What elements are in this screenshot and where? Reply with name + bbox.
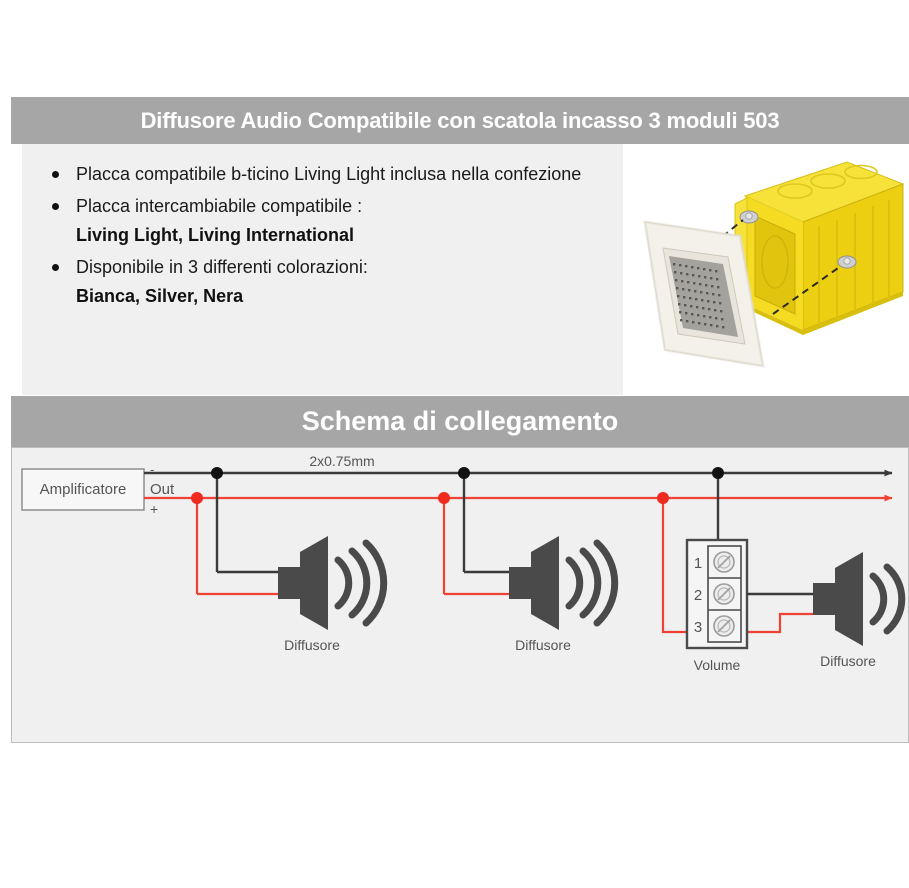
volume-label: Volume — [694, 657, 741, 673]
bullet-icon — [52, 203, 59, 210]
amplifier-block: Amplificatore — [22, 469, 144, 510]
feature-text: Disponibile in 3 differenti colorazioni: — [76, 257, 368, 277]
product-card: Diffusore Audio Compatibile con scatola … — [11, 97, 909, 395]
screw-boss-bottom — [838, 256, 856, 268]
terminal-number-3: 3 — [694, 619, 702, 636]
feature-text: Placca compatibile b-ticino Living Light… — [76, 164, 581, 184]
speaker-label-2: Diffusore — [515, 637, 571, 653]
product-title-band: Diffusore Audio Compatibile con scatola … — [11, 97, 909, 144]
features-panel: Placca compatibile b-ticino Living Light… — [22, 144, 623, 395]
list-item: Placca compatibile b-ticino Living Light… — [42, 160, 612, 189]
product-title: Diffusore Audio Compatibile con scatola … — [11, 97, 909, 144]
speaker-label-3: Diffusore — [820, 653, 876, 669]
cable-gauge-label: 2x0.75mm — [309, 453, 374, 469]
positive-wire-to-speaker-3 — [752, 614, 813, 632]
junction-dot-negative-3 — [712, 467, 724, 479]
terminal-screw-3 — [714, 616, 734, 636]
speaker-icon-2 — [509, 536, 615, 630]
bullet-icon — [52, 264, 59, 271]
junction-dot-positive-1 — [191, 492, 203, 504]
schema-section: Schema di collegamento Amplificatore Out… — [11, 396, 909, 743]
speaker-label-1: Diffusore — [284, 637, 340, 653]
feature-subtext: Living Light, Living International — [76, 221, 612, 250]
terminal-number-1: 1 — [694, 555, 702, 572]
terminal-number-2: 2 — [694, 587, 702, 604]
junction-dot-positive-3 — [657, 492, 669, 504]
features-list: Placca compatibile b-ticino Living Light… — [42, 160, 612, 314]
wiring-diagram: Amplificatore Out - + 2x0.75mm — [12, 448, 906, 740]
speaker-icon-1 — [278, 536, 384, 630]
junction-dot-negative-1 — [211, 467, 223, 479]
feature-text: Placca intercambiabile compatibile : — [76, 196, 362, 216]
list-item: Placca intercambiabile compatibile : Liv… — [42, 192, 612, 250]
amplifier-minus-label: - — [150, 462, 154, 477]
product-photo — [623, 144, 909, 395]
product-photo-illustration — [623, 144, 909, 395]
amplifier-plus-label: + — [150, 501, 158, 517]
junction-dot-negative-2 — [458, 467, 470, 479]
terminal-screw-1 — [714, 552, 734, 572]
terminal-screw-2 — [714, 584, 734, 604]
schema-title-band: Schema di collegamento — [11, 396, 909, 447]
junction-dot-positive-2 — [438, 492, 450, 504]
amplifier-label: Amplificatore — [40, 481, 127, 498]
amplifier-out-label: Out — [150, 481, 175, 498]
volume-control-module: 1 2 3 — [687, 540, 747, 648]
wiring-diagram-panel: Amplificatore Out - + 2x0.75mm — [11, 447, 909, 743]
speaker-icon-3 — [813, 552, 902, 646]
list-item: Disponibile in 3 differenti colorazioni:… — [42, 253, 612, 311]
schema-title: Schema di collegamento — [11, 396, 909, 447]
bullet-icon — [52, 171, 59, 178]
feature-subtext: Bianca, Silver, Nera — [76, 282, 612, 311]
